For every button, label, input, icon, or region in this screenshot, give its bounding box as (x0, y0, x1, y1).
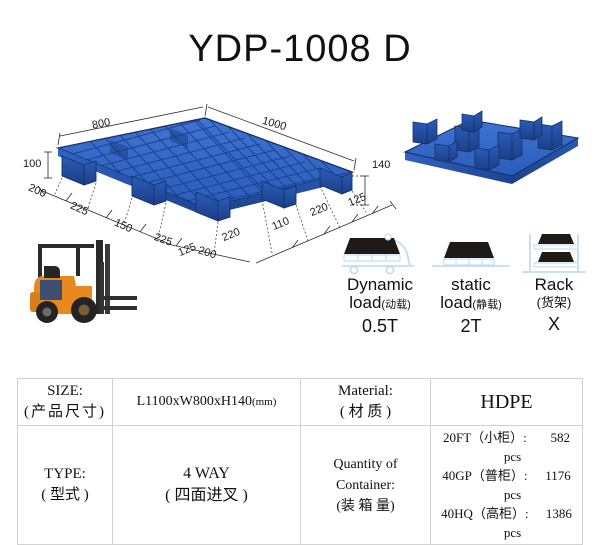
material-key-cn: ( 材 质 ) (305, 402, 426, 423)
load-value: 0.5T (332, 315, 428, 337)
load-label-line2: load(动载) (332, 294, 428, 314)
table-row-type: TYPE: ( 型式 ) 4 WAY ( 四面进叉 ) Quantity of … (18, 426, 583, 545)
dim-height-100: 100 (23, 158, 41, 170)
load-label-line1: Rack (514, 276, 594, 294)
size-key-cn: (产品尺寸) (22, 402, 108, 423)
container-row: 40GP（普柜）: 1176 pcs (435, 466, 578, 504)
load-label-line1: Dynamic (332, 276, 428, 294)
specification-table: SIZE: (产品尺寸) L1100xW800xH140(mm) Materia… (17, 378, 583, 545)
size-key-en: SIZE: (22, 381, 108, 402)
static-load-icon (426, 232, 516, 276)
load-label-en2: load (440, 293, 472, 312)
type-key-en: TYPE: (22, 464, 108, 485)
load-label-line1: static (426, 276, 516, 294)
load-capacity-group: Dynamic load(动载) 0.5T static load(静载) 2T (332, 232, 594, 342)
container-code: 40HQ（高柜）: (441, 506, 528, 521)
forklift (30, 240, 137, 323)
container-key-en2: Container: (305, 475, 426, 496)
type-key-cn: ( 型式 ) (22, 485, 108, 506)
load-item-static: static load(静载) 2T (426, 232, 516, 337)
pallet-bottom-view (405, 111, 578, 184)
material-value-cell: HDPE (431, 379, 583, 426)
rack-load-icon (514, 232, 594, 276)
size-key-cell: SIZE: (产品尺寸) (18, 379, 113, 426)
type-value-cell: 4 WAY ( 四面进叉 ) (113, 426, 301, 545)
container-row: 40HQ（高柜）: 1386 pcs (435, 504, 578, 542)
container-qty-cell: 20FT（小柜）: 582 pcs 40GP（普柜）: 1176 pcs 40H… (431, 426, 583, 545)
material-key-cell: Material: ( 材 质 ) (301, 379, 431, 426)
container-key-cn: (装 箱 量) (305, 496, 426, 517)
type-value-cn: ( 四面进叉 ) (117, 485, 296, 507)
container-key-cell: Quantity of Container: (装 箱 量) (301, 426, 431, 545)
table-row-size: SIZE: (产品尺寸) L1100xW800xH140(mm) Materia… (18, 379, 583, 426)
container-qty: 1176 (531, 466, 571, 485)
size-value-cell: L1100xW800xH140(mm) (113, 379, 301, 426)
size-value: L1100xW800xH140 (137, 394, 252, 409)
container-row: 20FT（小柜）: 582 pcs (435, 428, 578, 466)
container-unit: pcs (504, 487, 521, 502)
load-label-line2: load(静载) (426, 294, 516, 314)
load-label-cn: (静载) (472, 299, 501, 311)
container-qty: 582 (530, 428, 570, 447)
container-key-en1: Quantity of (305, 454, 426, 475)
load-value: 2T (426, 315, 516, 337)
dynamic-load-icon (332, 232, 428, 276)
material-key-en: Material: (305, 381, 426, 402)
load-label-en2: load (349, 293, 381, 312)
size-unit: (mm) (252, 396, 276, 408)
type-value-en: 4 WAY (117, 463, 296, 485)
load-label-cn: (货架) (514, 294, 594, 312)
container-unit: pcs (504, 449, 521, 464)
load-item-dynamic: Dynamic load(动载) 0.5T (332, 232, 428, 337)
container-code: 20FT（小柜）: (443, 430, 527, 445)
type-key-cell: TYPE: ( 型式 ) (18, 426, 113, 545)
load-item-rack: Rack (货架) X (514, 232, 594, 335)
container-code: 40GP（普柜）: (442, 468, 527, 483)
load-label-cn: (动载) (381, 299, 410, 311)
dim-height-140: 140 (372, 159, 390, 171)
container-qty: 1386 (532, 504, 572, 523)
load-value: X (514, 313, 594, 335)
container-unit: pcs (504, 525, 521, 540)
